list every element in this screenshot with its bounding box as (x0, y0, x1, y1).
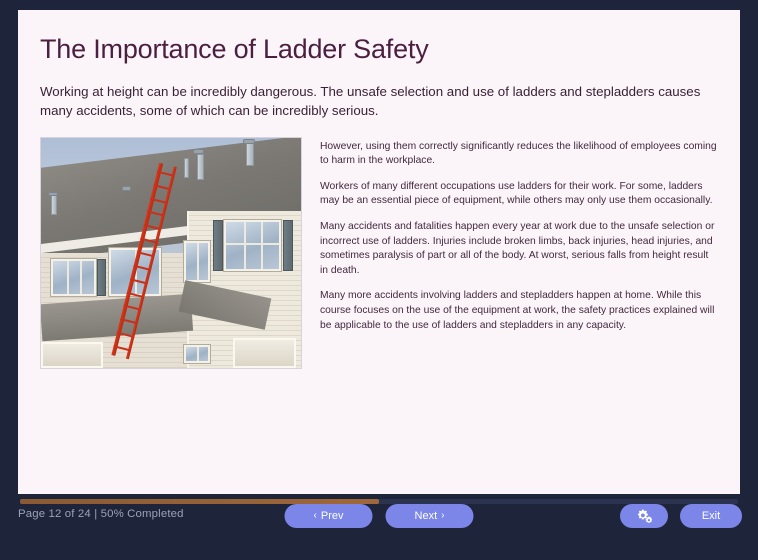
photo-window-right (224, 220, 281, 271)
photo-vent-cap-1 (193, 149, 204, 154)
photo-vent-pipe-2 (246, 142, 254, 166)
next-button-label: Next (415, 510, 438, 522)
prev-button[interactable]: ‹ Prev (285, 504, 373, 528)
next-button[interactable]: Next › (386, 504, 474, 528)
photo-vent-cap-2 (243, 139, 255, 144)
ladder-photo (40, 137, 302, 369)
photo-window-left (51, 259, 95, 296)
photo-vent-pipe-3 (51, 195, 57, 215)
cogs-icon (636, 509, 652, 523)
chevron-right-icon: › (441, 511, 444, 521)
slide-panel: The Importance of Ladder Safety Working … (18, 10, 740, 494)
body-text-column: However, using them correctly significan… (320, 137, 718, 334)
photo-shutter-mid (213, 220, 223, 271)
photo-vent-cap-3 (48, 192, 58, 196)
photo-vent-pipe-4 (184, 158, 189, 178)
photo-window-mid (184, 241, 210, 282)
chevron-left-icon: ‹ (314, 511, 317, 521)
photo-garage-door-right (233, 338, 295, 368)
page-title: The Importance of Ladder Safety (40, 34, 718, 65)
settings-button[interactable] (620, 504, 668, 528)
media-column (40, 137, 302, 369)
body-paragraph: However, using them correctly significan… (320, 140, 718, 169)
body-paragraph: Workers of many different occupations us… (320, 180, 718, 209)
photo-vent-pipe-1 (197, 154, 204, 180)
page-status-text: Page 12 of 24 | 50% Completed (18, 508, 184, 520)
navigation-controls: ‹ Prev Next › (285, 504, 474, 528)
slide-body: However, using them correctly significan… (40, 137, 718, 369)
slide-content: The Importance of Ladder Safety Working … (18, 10, 740, 369)
photo-garage-door-left (41, 342, 103, 367)
body-paragraph: Many more accidents involving ladders an… (320, 289, 718, 333)
body-paragraph: Many accidents and fatalities happen eve… (320, 220, 718, 278)
slide-intro-paragraph: Working at height can be incredibly dang… (40, 82, 718, 121)
player-footer-bar: Page 12 of 24 | 50% Completed ‹ Prev Nex… (0, 494, 758, 560)
exit-button[interactable]: Exit (680, 504, 742, 528)
player-actions: Exit (620, 504, 742, 528)
prev-button-label: Prev (321, 510, 344, 522)
photo-roof-cap-small (122, 186, 131, 191)
photo-shutter-left (97, 259, 106, 296)
photo-basement-window (184, 345, 210, 363)
exit-button-label: Exit (702, 510, 720, 522)
photo-shutter-right (283, 220, 293, 271)
